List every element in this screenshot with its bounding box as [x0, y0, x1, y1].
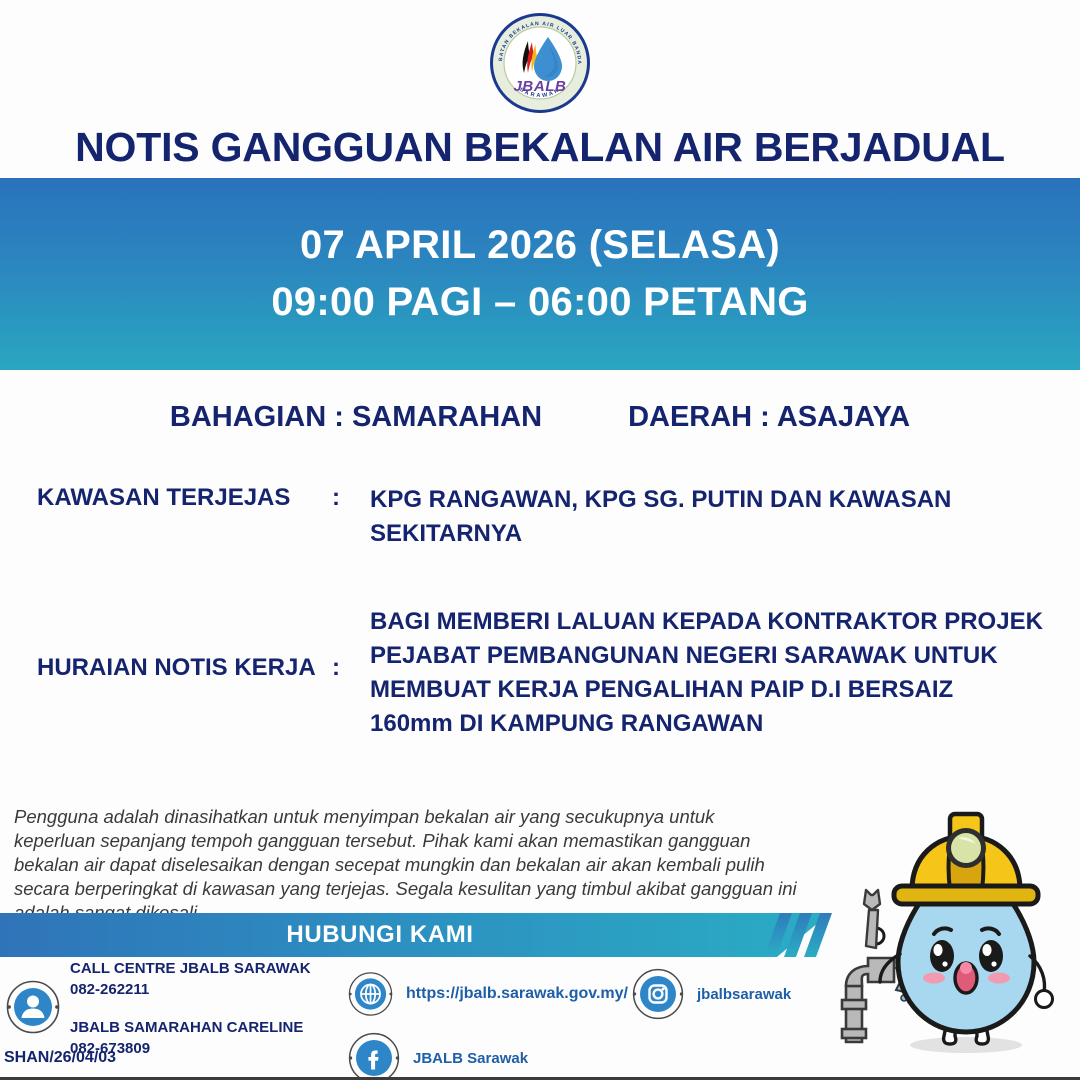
mascot-svg — [838, 786, 1070, 1068]
affected-area-row: KAWASAN TERJEJAS : KPG RANGAWAN, KPG SG.… — [37, 483, 1043, 551]
division-field: BAHAGIAN : SAMARAHAN — [170, 401, 542, 434]
person-icon — [6, 958, 60, 1039]
work-description-line: PEJABAT PEMBANGUNAN NEGERI SARAWAK UNTUK — [370, 639, 1043, 673]
affected-area-value: KPG RANGAWAN, KPG SG. PUTIN DAN KAWASAN … — [370, 483, 1043, 551]
water-disruption-notice-poster: JABATAN BEKALAN AIR LUAR BANDAR SARAWAK … — [0, 0, 1080, 1080]
call-centre-number[interactable]: 082-262211 — [70, 979, 311, 1000]
contact-banner-title: HUBUNGI KAMI — [0, 913, 760, 957]
web-contacts: https://jbalb.sarawak.gov.my/ JBALB Sara… — [348, 968, 628, 1080]
district-field: DAERAH : ASAJAYA — [628, 401, 910, 434]
notice-date: 07 APRIL 2026 (SELASA) — [300, 217, 780, 274]
work-description-line: BAGI MEMBERI LALUAN KEPADA KONTRAKTOR PR… — [370, 605, 1043, 639]
instagram-item[interactable]: jbalbsarawak — [632, 968, 832, 1020]
work-description-row: HURAIAN NOTIS KERJA : BAGI MEMBERI LALUA… — [37, 605, 1043, 741]
instagram-handle[interactable]: jbalbsarawak — [697, 986, 791, 1003]
person-icon-svg — [6, 980, 60, 1034]
call-centre-block: CALL CENTRE JBALB SARAWAK 082-262211 — [70, 958, 311, 1001]
work-description-line: MEMBUAT KERJA PENGALIHAN PAIP D.I BERSAI… — [370, 673, 1043, 707]
work-description-value: BAGI MEMBERI LALUAN KEPADA KONTRAKTOR PR… — [370, 605, 1043, 741]
date-time-banner: 07 APRIL 2026 (SELASA) 09:00 PAGI – 06:0… — [0, 178, 1080, 370]
affected-area-colon: : — [332, 483, 370, 512]
svg-text:JBALB: JBALB — [513, 78, 566, 95]
leaking-pipe — [842, 958, 894, 1042]
instagram-icon[interactable] — [632, 968, 684, 1020]
jbalb-logo-svg: JABATAN BEKALAN AIR LUAR BANDAR SARAWAK … — [488, 11, 592, 115]
call-centre-name: CALL CENTRE JBALB SARAWAK — [70, 958, 311, 979]
contact-banner: HUBUNGI KAMI — [0, 913, 830, 957]
social-contacts: jbalbsarawak — [632, 968, 832, 1032]
page-title: NOTIS GANGGUAN BEKALAN AIR BERJADUAL — [0, 126, 1080, 169]
notice-time: 09:00 PAGI – 06:00 PETANG — [271, 274, 808, 331]
work-description-colon: : — [332, 605, 370, 682]
affected-area-line: KPG RANGAWAN, KPG SG. PUTIN DAN KAWASAN — [370, 483, 1043, 517]
careline-name: JBALB SAMARAHAN CARELINE — [70, 1017, 311, 1038]
affected-area-label: KAWASAN TERJEJAS — [37, 483, 332, 512]
work-description-line: 160mm DI KAMPUNG RANGAWAN — [370, 707, 1043, 741]
reference-code: SHAN/26/04/03 — [4, 1049, 116, 1067]
wrench-icon — [864, 890, 880, 948]
banner-stripes-decoration — [766, 913, 838, 957]
jbalb-logo: JABATAN BEKALAN AIR LUAR BANDAR SARAWAK … — [0, 8, 1080, 118]
affected-area-line: SEKITARNYA — [370, 517, 1043, 551]
water-droplet-mascot — [838, 786, 1070, 1068]
facebook-icon[interactable] — [348, 1032, 400, 1080]
website-url[interactable]: https://jbalb.sarawak.gov.my/ — [406, 985, 628, 1003]
hard-hat-icon — [894, 814, 1038, 904]
advisory-text: Pengguna adalah dinasihatkan untuk menyi… — [14, 805, 798, 925]
location-row: BAHAGIAN : SAMARAHAN DAERAH : ASAJAYA — [0, 401, 1080, 434]
facebook-item[interactable]: JBALB Sarawak — [348, 1032, 628, 1080]
facebook-handle[interactable]: JBALB Sarawak — [413, 1050, 528, 1067]
work-description-label: HURAIAN NOTIS KERJA — [37, 605, 332, 682]
website-item[interactable]: https://jbalb.sarawak.gov.my/ — [348, 968, 628, 1020]
globe-icon[interactable] — [348, 968, 393, 1020]
